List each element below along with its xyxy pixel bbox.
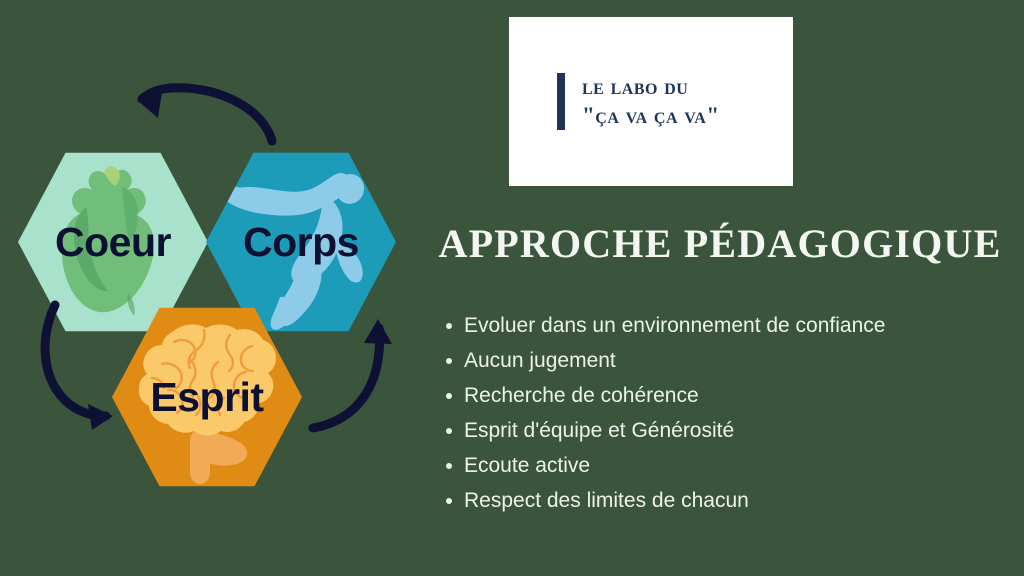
page-title: APPROCHE PÉDAGOGIQUE [430, 222, 1010, 266]
logo-line-2: "ÇA VA ÇA VA" [582, 102, 720, 131]
list-item: Recherche de cohérence [440, 378, 1000, 413]
list-item: Ecoute active [440, 448, 1000, 483]
hex-label-esprit: Esprit [150, 377, 263, 418]
arrow-corps-to-coeur [137, 88, 272, 141]
slide-canvas: Coeur Corps [0, 0, 1024, 576]
coeur-corps-esprit-diagram: Coeur Corps [0, 0, 430, 576]
logo-card: Le LABO du "ÇA VA ÇA VA" [509, 17, 793, 186]
hex-label-corps: Corps [243, 222, 359, 263]
hex-label-coeur: Coeur [55, 222, 171, 263]
list-item: Aucun jugement [440, 343, 1000, 378]
arrow-esprit-to-corps [313, 319, 392, 428]
logo-accent-bar [557, 73, 565, 131]
logo-line-1: Le LABO du [582, 73, 720, 102]
list-item: Evoluer dans un environnement de confian… [440, 308, 1000, 343]
list-item: Respect des limites de chacun [440, 483, 1000, 518]
approach-bullet-list: Evoluer dans un environnement de confian… [440, 308, 1000, 518]
list-item: Esprit d'équipe et Générosité [440, 413, 1000, 448]
